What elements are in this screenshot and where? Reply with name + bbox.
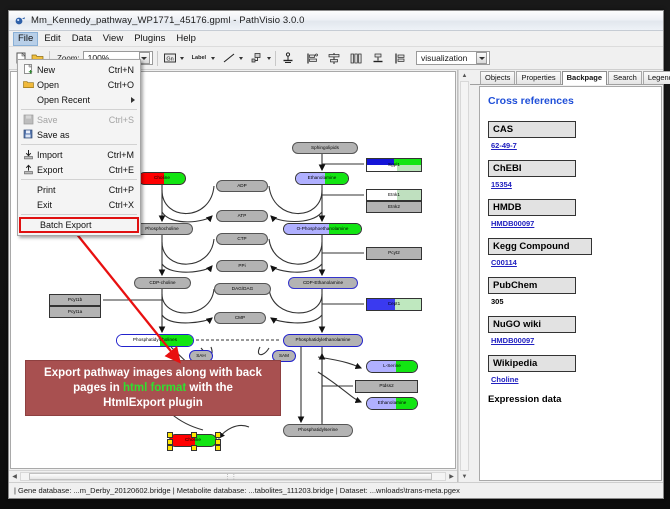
- pathway-node-label: CDP-Ethanolamine: [302, 281, 344, 286]
- file-menu-item-import[interactable]: ImportCtrl+M: [18, 147, 140, 162]
- xref-header-chebi: ChEBI: [488, 160, 576, 177]
- pathway-node-label: O-Phosphoethanolamine: [296, 227, 350, 232]
- pathway-node-ctp[interactable]: CTP: [216, 233, 268, 245]
- menu-item-no-icon: [20, 183, 37, 197]
- xref-header-nugo-wiki: NuGO wiki: [488, 316, 576, 333]
- tab-legend[interactable]: Legend: [643, 71, 670, 84]
- pathway-node-label: Phosphocholine: [144, 227, 179, 232]
- hscroll-track[interactable]: ⋮⋮: [20, 472, 446, 481]
- pathway-node-cdp-choline[interactable]: CDP-choline: [134, 277, 191, 289]
- pathway-node-atp[interactable]: ATP: [216, 210, 268, 222]
- pathway-node-phosphatidylcholines[interactable]: Phosphatidylcholines: [116, 334, 194, 347]
- xref-header-cas: CAS: [488, 121, 576, 138]
- file-menu-item-label: Batch Export: [40, 220, 131, 230]
- xref-value-wikipedia[interactable]: Choline: [491, 375, 655, 384]
- pathway-node-sphingolipids[interactable]: Sphingolipids: [292, 142, 358, 154]
- file-menu-item-accelerator: Ctrl+O: [108, 80, 140, 90]
- pathway-node-label: ATP: [237, 214, 248, 219]
- backpage-panel: Cross references CAS62-49-7ChEBI15354HMD…: [479, 86, 662, 481]
- annotation-line-3: HtmlExport plugin: [103, 396, 203, 411]
- screenshot-frame: Mm_Kennedy_pathway_WP1771_45176.gpml - P…: [0, 0, 670, 509]
- pathway-node-label: L-Serine: [382, 364, 402, 369]
- file-menu-item-label: Import: [37, 150, 107, 160]
- align-bottom-icon[interactable]: [370, 50, 386, 66]
- menu-help[interactable]: Help: [171, 32, 201, 46]
- file-menu-item-label: Save: [37, 115, 109, 125]
- tab-objects[interactable]: Objects: [480, 71, 515, 84]
- pathway-node-label: Sgpl1: [387, 163, 401, 168]
- line-dropdown-icon[interactable]: [239, 57, 243, 60]
- pathway-node-phosphatidylethanolamine[interactable]: Phosphatidylethanolamine: [283, 334, 363, 347]
- file-menu-item-print[interactable]: PrintCtrl+P: [18, 182, 140, 197]
- file-menu-item-save-as[interactable]: Save as: [18, 127, 140, 142]
- resize-handle[interactable]: [167, 439, 173, 445]
- resize-handle[interactable]: [191, 445, 197, 451]
- export-icon: [20, 163, 37, 177]
- file-menu-separator: [21, 109, 137, 110]
- align-left-icon[interactable]: [304, 50, 320, 66]
- align-columns-icon[interactable]: [348, 50, 364, 66]
- scroll-up-icon[interactable]: ▲: [459, 70, 470, 81]
- file-menu-item-accelerator: Ctrl+N: [108, 65, 140, 75]
- pathway-node-ethanolamine[interactable]: Ethanolamine: [295, 172, 349, 185]
- file-menu-item-save: SaveCtrl+S: [18, 112, 140, 127]
- resize-handle[interactable]: [191, 432, 197, 438]
- pathway-node-label: Pcyt2: [387, 251, 401, 256]
- pathway-node-ppi[interactable]: PPi: [216, 260, 268, 272]
- datanode-icon[interactable]: Gn: [162, 50, 178, 66]
- align-center-icon[interactable]: [326, 50, 342, 66]
- pathway-node-label: Phosphatidylserine: [297, 428, 339, 433]
- file-menu-item-accelerator: Ctrl+X: [109, 200, 140, 210]
- pathway-node-label: DAG/DAG: [231, 287, 255, 292]
- xref-value-pubchem: 305: [491, 297, 655, 306]
- pathway-node-label: CDP-choline: [148, 281, 176, 286]
- scroll-left-icon[interactable]: ◀: [9, 471, 20, 482]
- xref-header-kegg-compound: Kegg Compound: [488, 238, 592, 255]
- hscroll-grip: ⋮⋮: [224, 473, 237, 480]
- file-menu-item-accelerator: Ctrl+P: [109, 185, 140, 195]
- anchor-icon[interactable]: [280, 50, 296, 66]
- pathway-node-ethanolamine[interactable]: Ethanolamine: [366, 397, 418, 410]
- pathway-node-cdp-ethanolamine[interactable]: CDP-Ethanolamine: [288, 277, 358, 289]
- line-icon[interactable]: [221, 50, 237, 66]
- visualization-combo[interactable]: visualization: [416, 51, 490, 65]
- file-menu-item-batch-export[interactable]: Batch Export: [19, 217, 139, 233]
- scroll-right-icon[interactable]: ▶: [446, 471, 457, 482]
- file-menu-item-label: Exit: [37, 200, 109, 210]
- file-menu-popup[interactable]: NewCtrl+NOpenCtrl+OOpen RecentSaveCtrl+S…: [17, 59, 141, 236]
- file-menu-item-exit[interactable]: ExitCtrl+X: [18, 197, 140, 212]
- pathway-node-pcyt1b[interactable]: Pcyt1b: [49, 294, 101, 306]
- save-icon: [20, 113, 37, 127]
- file-menu-item-label: Print: [37, 185, 109, 195]
- file-menu-separator: [21, 179, 137, 180]
- pathway-node-label: Ethanolamine: [307, 176, 338, 181]
- annotation-line-2-prefix: pages in: [73, 382, 123, 394]
- save-as-icon: [20, 128, 37, 142]
- pathway-node-label: Ptdss2: [378, 384, 394, 389]
- pathway-node-label: CMP: [234, 316, 246, 321]
- pathway-node-label: Pcyt1a: [67, 310, 83, 315]
- pathway-node-phosphatidylserine[interactable]: Phosphatidylserine: [283, 424, 353, 437]
- pathway-node-label: Phosphatidylcholines: [132, 338, 178, 343]
- file-menu-item-accelerator: Ctrl+E: [109, 165, 140, 175]
- resize-handle[interactable]: [167, 432, 173, 438]
- file-menu-item-label: Export: [37, 165, 109, 175]
- resize-handle[interactable]: [215, 445, 221, 451]
- menu-item-no-icon: [23, 218, 40, 232]
- pathway-node-cept1[interactable]: Cept1: [366, 298, 422, 311]
- file-menu-item-label: Open: [37, 80, 108, 90]
- annotation-line-2: pages in html format with the: [73, 381, 233, 396]
- pathway-node-label: Sphingolipids: [310, 146, 340, 151]
- tab-search[interactable]: Search: [608, 71, 642, 84]
- title-bar: Mm_Kennedy_pathway_WP1771_45176.gpml - P…: [9, 11, 663, 31]
- pathway-node-label: PPi: [237, 264, 246, 269]
- menu-plugins[interactable]: Plugins: [129, 32, 170, 46]
- receptor-dropdown-icon[interactable]: [267, 57, 271, 60]
- cross-references-heading: Cross references: [488, 95, 655, 107]
- label-tool-label[interactable]: Label: [192, 55, 206, 61]
- pathway-node-label: Choline: [153, 176, 171, 181]
- chevron-down-icon[interactable]: [476, 52, 487, 64]
- xref-value-kegg-compound[interactable]: C00114: [491, 258, 655, 267]
- resize-handle[interactable]: [215, 432, 221, 438]
- pathway-node-pcyt2[interactable]: Pcyt2: [366, 247, 422, 260]
- xref-value-nugo-wiki[interactable]: HMDB00097: [491, 336, 655, 345]
- canvas-vscrollbar[interactable]: ▲ ▼: [458, 70, 470, 482]
- pathway-node-label: SAM: [278, 354, 290, 359]
- file-menu-item-export[interactable]: ExportCtrl+E: [18, 162, 140, 177]
- xref-value-hmdb[interactable]: HMDB00097: [491, 219, 655, 228]
- tab-properties[interactable]: Properties: [516, 71, 560, 84]
- menu-bar[interactable]: FileEditDataViewPluginsHelp: [9, 31, 663, 47]
- menu-view[interactable]: View: [98, 32, 128, 46]
- file-menu-item-label: New: [37, 65, 108, 75]
- file-menu-item-label: Save as: [37, 130, 134, 140]
- pathway-node-label: Pcyt1b: [67, 298, 83, 303]
- file-menu-item-open[interactable]: OpenCtrl+O: [18, 77, 140, 92]
- file-menu-separator: [21, 144, 137, 145]
- label-dropdown-icon[interactable]: [211, 57, 215, 60]
- pathway-node-label: Ethanolamine: [377, 401, 408, 406]
- status-bar: | Gene database: ...m_Derby_20120602.bri…: [9, 482, 663, 498]
- align-right-icon[interactable]: [392, 50, 408, 66]
- pathway-node-label: Etnk2: [387, 205, 401, 210]
- open-folder-icon: [20, 78, 37, 92]
- xref-header-pubchem: PubChem: [488, 277, 576, 294]
- submenu-arrow-icon: [131, 97, 135, 103]
- canvas-hscrollbar[interactable]: ◀ ⋮⋮ ▶: [9, 470, 457, 482]
- pathway-node-cmp[interactable]: CMP: [214, 312, 266, 324]
- xref-header-wikipedia: Wikipedia: [488, 355, 576, 372]
- datanode-dropdown-icon[interactable]: [180, 57, 184, 60]
- menu-data[interactable]: Data: [67, 32, 97, 46]
- pathway-node-etnk2[interactable]: Etnk2: [366, 201, 422, 213]
- selection-handles[interactable]: [169, 434, 217, 447]
- pathway-node-sgpl1[interactable]: Sgpl1: [366, 158, 422, 172]
- status-text: | Gene database: ...m_Derby_20120602.bri…: [14, 486, 460, 495]
- file-menu-item-open-recent[interactable]: Open Recent: [18, 92, 140, 107]
- annotation-line-2-suffix: with the: [186, 382, 233, 394]
- pathway-node-choline[interactable]: Choline: [138, 172, 186, 185]
- annotation-line-1: Export pathway images along with back: [44, 366, 262, 381]
- pathway-node-dag-dag[interactable]: DAG/DAG: [214, 283, 271, 295]
- annotation-line-1-text: Export pathway images along with back: [44, 367, 262, 379]
- pathway-node-label: SAH: [195, 354, 207, 359]
- file-menu-separator: [21, 214, 137, 215]
- pathway-node-label: CTP: [236, 237, 247, 242]
- pathway-node-pcyt1a[interactable]: Pcyt1a: [49, 306, 101, 318]
- menu-edit[interactable]: Edit: [39, 32, 65, 46]
- svg-text:Gn: Gn: [166, 56, 173, 62]
- pathway-node-adp[interactable]: ADP: [216, 180, 268, 192]
- annotation-html-format-text: html format: [123, 382, 186, 394]
- file-menu-item-label: Open Recent: [37, 95, 131, 105]
- pathvisio-icon: [14, 15, 26, 27]
- side-panel-tabs[interactable]: ObjectsPropertiesBackpageSearchLegend: [470, 70, 663, 85]
- xref-value-cas[interactable]: 62-49-7: [491, 141, 655, 150]
- visualization-value: visualization: [421, 53, 476, 63]
- import-icon: [20, 148, 37, 162]
- window-title: Mm_Kennedy_pathway_WP1771_45176.gpml - P…: [31, 15, 305, 26]
- resize-handle[interactable]: [167, 445, 173, 451]
- pathway-node-o-phosphoethanolamine[interactable]: O-Phosphoethanolamine: [283, 223, 362, 235]
- annotation-callout: Export pathway images along with back pa…: [25, 360, 281, 416]
- side-panel: ObjectsPropertiesBackpageSearchLegend Cr…: [470, 70, 663, 482]
- new-file-icon: [20, 63, 37, 77]
- resize-handle[interactable]: [215, 439, 221, 445]
- pathway-node-label: Etnk1: [387, 193, 401, 198]
- pathway-node-etnk1[interactable]: Etnk1: [366, 189, 422, 201]
- file-menu-item-new[interactable]: NewCtrl+N: [18, 62, 140, 77]
- file-menu-item-accelerator: Ctrl+M: [107, 150, 140, 160]
- pathway-node-label: Cept1: [387, 302, 402, 307]
- cross-reference-list: CAS62-49-7ChEBI15354HMDBHMDB00097Kegg Co…: [488, 121, 655, 384]
- file-menu-item-accelerator: Ctrl+S: [109, 115, 140, 125]
- menu-item-no-icon: [20, 198, 37, 212]
- pathway-node-ptdss2[interactable]: Ptdss2: [355, 380, 418, 393]
- receptor-icon[interactable]: [249, 50, 265, 66]
- xref-value-chebi[interactable]: 15354: [491, 180, 655, 189]
- hscroll-thumb[interactable]: ⋮⋮: [29, 473, 432, 480]
- xref-header-hmdb: HMDB: [488, 199, 576, 216]
- scroll-down-icon[interactable]: ▼: [459, 471, 470, 482]
- vscroll-track[interactable]: [460, 81, 469, 471]
- expression-data-heading: Expression data: [488, 394, 655, 405]
- pathway-node-l-serine[interactable]: L-Serine: [366, 360, 418, 373]
- tab-backpage[interactable]: Backpage: [562, 71, 607, 85]
- pathway-node-label: Phosphatidylethanolamine: [294, 338, 351, 343]
- pathvisio-window: Mm_Kennedy_pathway_WP1771_45176.gpml - P…: [8, 10, 664, 499]
- menu-item-no-icon: [20, 93, 37, 107]
- pathway-node-label: ADP: [236, 184, 248, 189]
- menu-file[interactable]: File: [13, 32, 38, 46]
